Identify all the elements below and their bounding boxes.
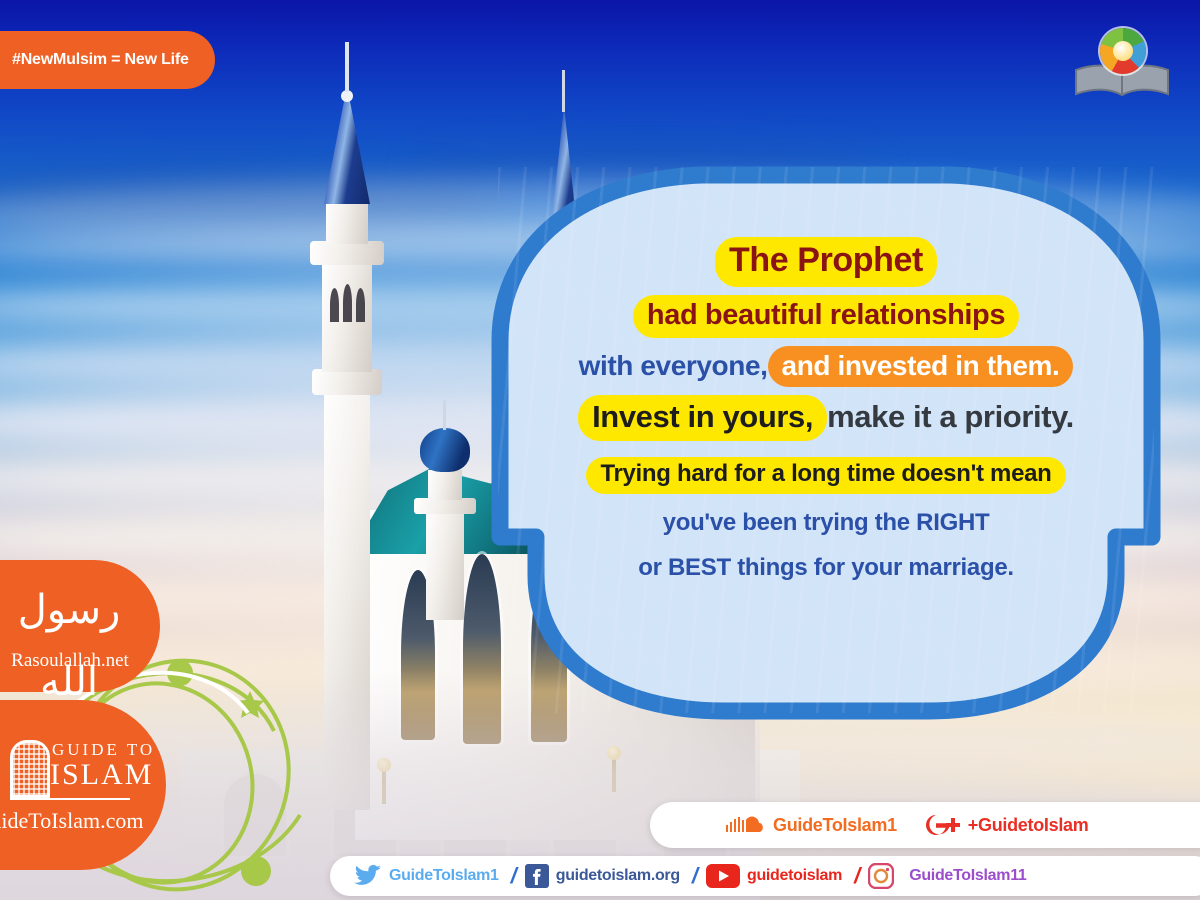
quote-line-6-text: you've been trying the RIGHT [663, 509, 990, 536]
quote-line-1-text: The Prophet [715, 237, 937, 287]
separator: / [854, 863, 860, 889]
youtube-icon[interactable] [706, 864, 740, 888]
rasoulallah-brand-panel: رسول الله Rasoulallah.net [0, 560, 160, 692]
social-item-instagram[interactable]: GuideToIslam11 [868, 863, 1026, 889]
social-item-youtube[interactable]: guidetoislam [706, 864, 842, 888]
rasoulallah-url: Rasoulallah.net [0, 650, 140, 672]
quote-panel: The Prophet had beautiful relationships … [476, 145, 1176, 735]
quote-line-1: The Prophet [516, 237, 1136, 287]
googleplus-label[interactable]: +GuidetoIslam [968, 815, 1089, 836]
facebook-icon[interactable] [525, 864, 549, 888]
separator: / [511, 863, 517, 889]
divider [10, 798, 130, 800]
hashtag-banner: #NewMulsim = New Life [0, 31, 215, 89]
poster: The Prophet had beautiful relationships … [0, 0, 1200, 900]
quote-line-3b-text: and invested in them. [768, 346, 1074, 388]
guide-line-1: GUIDE TO [52, 740, 155, 760]
quote-line-5-text: Trying hard for a long time doesn't mean [586, 457, 1065, 494]
googleplus-icon[interactable] [923, 812, 961, 838]
instagram-icon[interactable] [868, 863, 894, 889]
quote-line-4a-text: Invest in yours, [578, 395, 827, 441]
arabic-calligraphy: رسول الله [4, 574, 134, 646]
globe-icon [1100, 28, 1146, 74]
quote-text-block: The Prophet had beautiful relationships … [516, 237, 1136, 591]
quote-line-4b-text: make it a priority. [827, 399, 1074, 434]
mihrab-icon [10, 740, 50, 798]
quote-line-3a-text: with everyone, [579, 350, 768, 381]
quote-line-7-text: or BEST things for your marriage. [638, 554, 1014, 581]
quote-line-7: or BEST things for your marriage. [516, 553, 1136, 584]
mosque-small-minaret [410, 390, 480, 620]
guide-line-2: ISLAM [50, 758, 153, 792]
quote-line-3: with everyone,and invested in them. [516, 346, 1136, 388]
separator: / [692, 863, 698, 889]
social-item-twitter[interactable]: GuideToIslam1 [354, 864, 499, 888]
social-item-facebook[interactable]: guidetoislam.org [525, 864, 680, 888]
guide-url: GuideToIslam.com [0, 808, 154, 834]
quote-line-6: you've been trying the RIGHT [516, 508, 1136, 539]
social-item-soundcloud[interactable]: GuideToIslam1 [726, 814, 897, 836]
soundcloud-label[interactable]: GuideToIslam1 [773, 815, 897, 836]
guide-to-islam-emblem [1074, 28, 1170, 100]
quote-line-4: Invest in yours,make it a priority. [516, 395, 1136, 441]
twitter-label[interactable]: GuideToIslam1 [389, 867, 499, 885]
social-bar-bottom: GuideToIslam1 / guidetoislam.org / guide… [330, 856, 1200, 896]
instagram-label[interactable]: GuideToIslam11 [909, 867, 1026, 885]
quote-line-5: Trying hard for a long time doesn't mean [516, 457, 1136, 494]
quote-line-2-text: had beautiful relationships [633, 295, 1019, 338]
hashtag-label: #NewMulsim = New Life [12, 51, 189, 69]
guide-to-islam-brand-panel: GUIDE TO ISLAM GuideToIslam.com [0, 700, 166, 870]
social-item-googleplus[interactable]: +GuidetoIslam [923, 812, 1089, 838]
twitter-icon[interactable] [354, 864, 382, 888]
youtube-label[interactable]: guidetoislam [747, 867, 842, 885]
social-bar-top: GuideToIslam1 +GuidetoIslam [650, 802, 1200, 848]
soundcloud-icon[interactable] [726, 814, 766, 836]
facebook-label[interactable]: guidetoislam.org [556, 867, 680, 885]
quote-line-2: had beautiful relationships [516, 295, 1136, 338]
